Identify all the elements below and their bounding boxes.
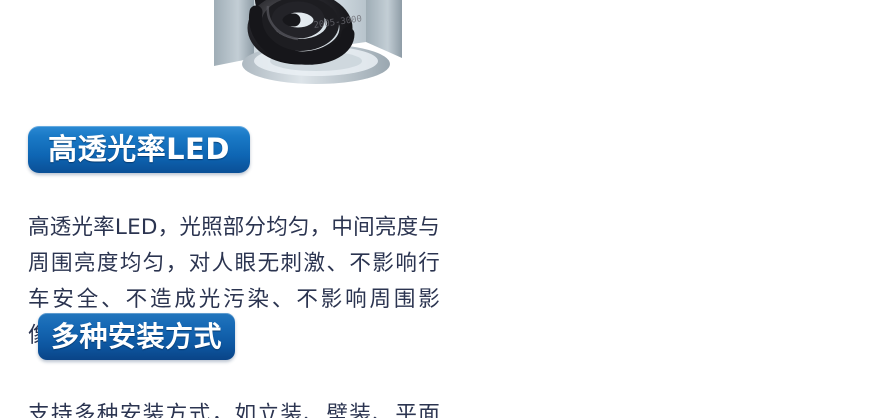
badge-multiple-mounting-methods[interactable]: 多种安装方式 [38, 313, 235, 360]
feature-description-multiple-mounting-methods: 支持多种安装方式，如立装、壁装、平面装 [28, 397, 440, 418]
product-feature-page: 2005-3000 高透光率LED 高透光率LED，光照部分均匀，中间亮度与周围… [0, 0, 880, 418]
left-feature-column: 高透光率LED 高透光率LED，光照部分均匀，中间亮度与周围亮度均匀，对人眼无刺… [0, 0, 446, 418]
badge-high-transmittance-led[interactable]: 高透光率LED [28, 126, 250, 173]
right-feature-column: 进口大功率3W LED灯珠，高亮度、低光衰、使用寿命长达5万小时。 进口IC电源… [446, 0, 880, 418]
